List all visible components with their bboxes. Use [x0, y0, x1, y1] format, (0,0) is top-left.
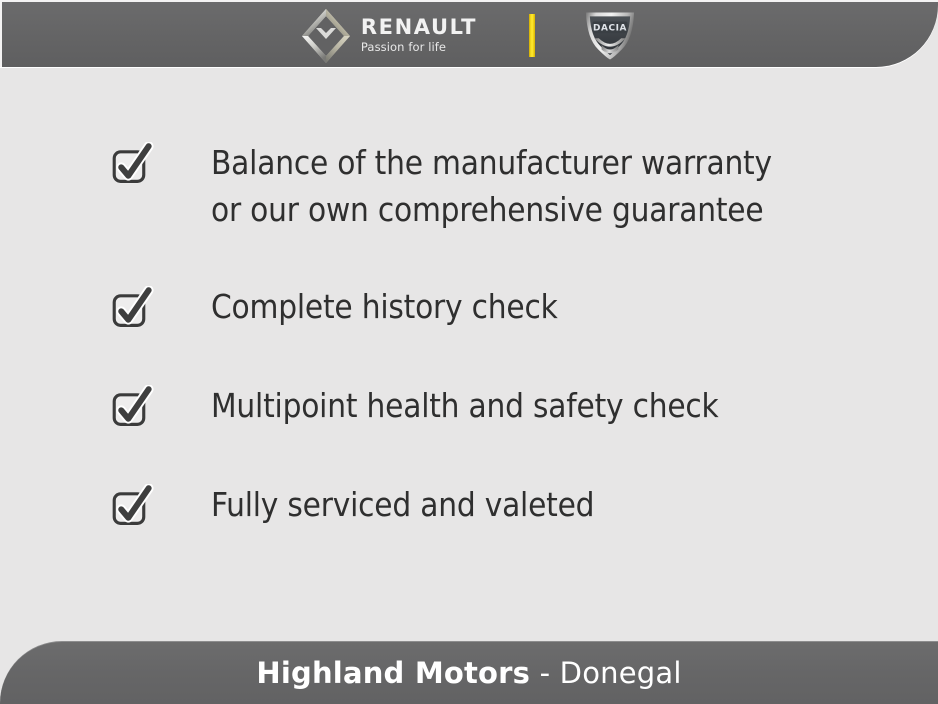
list-item: Complete history check: [110, 283, 898, 331]
renault-brand-block: RENAULT Passion for life: [301, 8, 477, 64]
main-content: Balance of the manufacturer warranty or …: [0, 67, 938, 641]
list-item: Balance of the manufacturer warranty or …: [110, 139, 898, 233]
list-item-label: Multipoint health and safety check: [211, 382, 719, 429]
header-brand-row: RENAULT Passion for life: [2, 2, 938, 69]
list-item-label: Complete history check: [211, 283, 558, 330]
checkbox-wrap: [110, 481, 158, 529]
checkbox-wrap: [110, 283, 158, 331]
list-item: Fully serviced and valeted: [110, 481, 898, 529]
checkbox-checked-icon: [110, 142, 155, 187]
benefits-checklist: Balance of the manufacturer warranty or …: [110, 139, 898, 529]
list-item-label: Balance of the manufacturer warranty or …: [211, 139, 772, 233]
renault-brand-name: RENAULT: [361, 17, 477, 38]
dealer-location: Donegal: [560, 656, 682, 690]
renault-tagline: Passion for life: [361, 42, 477, 54]
checkbox-wrap: [110, 382, 158, 430]
svg-text:DACIA: DACIA: [593, 23, 627, 33]
renault-diamond-logo: [301, 8, 351, 64]
renault-wordmark: RENAULT Passion for life: [361, 17, 477, 54]
dealer-separator: -: [530, 656, 560, 690]
checkbox-checked-icon: [110, 385, 155, 430]
header-bar: RENAULT Passion for life: [0, 0, 938, 67]
list-item-label: Fully serviced and valeted: [211, 481, 594, 528]
dealer-name: Highland Motors: [256, 656, 530, 690]
list-item: Multipoint health and safety check: [110, 382, 898, 430]
checkbox-checked-icon: [110, 484, 155, 529]
dacia-shield-logo: DACIA: [579, 8, 641, 64]
vertical-divider-icon: [529, 14, 535, 57]
checkbox-checked-icon: [110, 286, 155, 331]
promo-banner: RENAULT Passion for life: [0, 0, 938, 704]
dealer-banner: Highland Motors - Donegal: [256, 656, 681, 690]
checkbox-wrap: [110, 139, 158, 187]
footer-bar: Highland Motors - Donegal: [0, 641, 938, 704]
